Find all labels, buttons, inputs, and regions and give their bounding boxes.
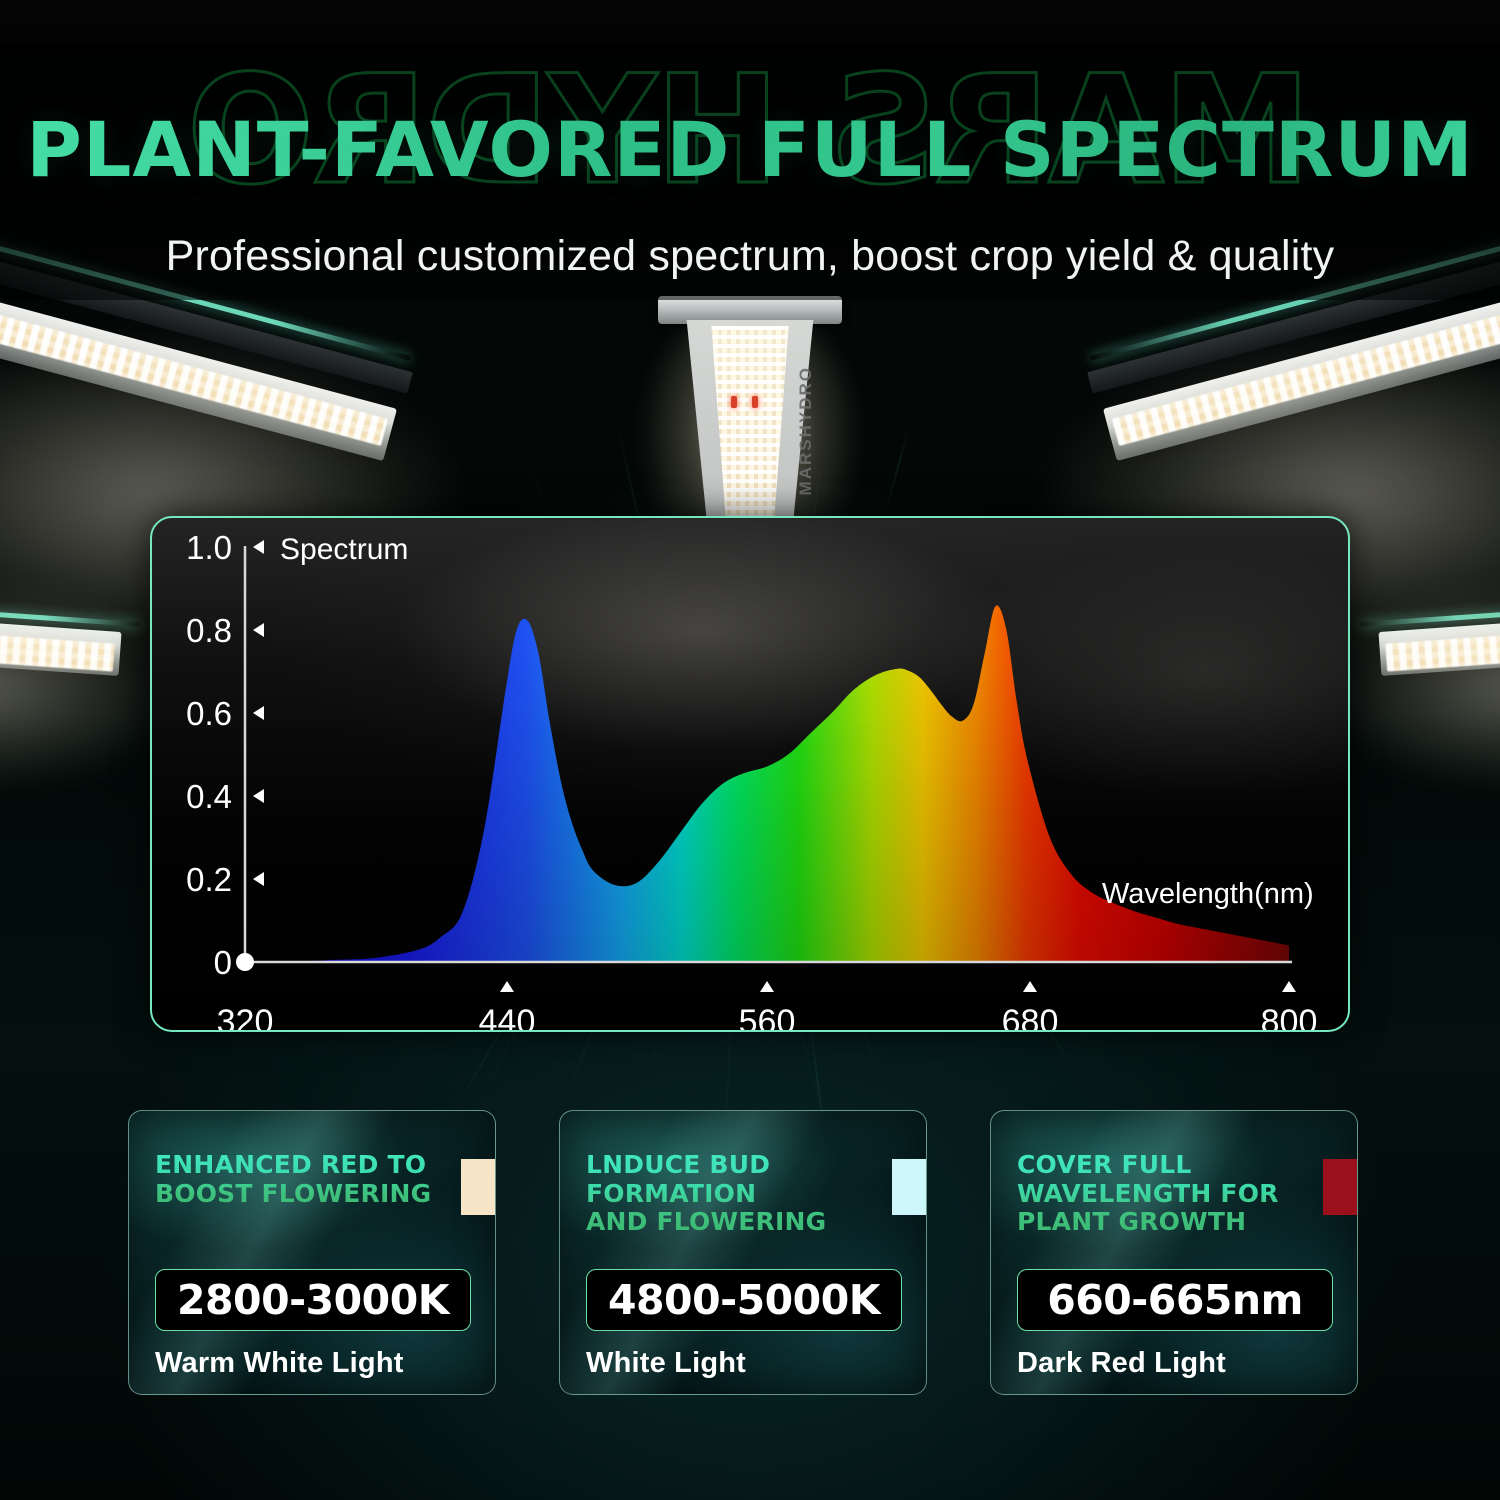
indicator-dot-2 [752,396,758,408]
value-box-3: 660-665nm [1017,1269,1333,1331]
x-axis-title: Wavelength(nm) [1102,878,1314,910]
grow-light-fixture-center: MARSHYDRO [600,296,900,546]
y-tick-label-1.0: 1.0 [186,529,232,566]
origin-dot [236,953,254,971]
header: MARS HYDRO PLANT-FAVORED FULL SPECTRUM P… [0,0,1500,300]
dark-red-swatch [1323,1159,1357,1215]
warm-white-swatch [461,1159,495,1215]
card-footer-3: Dark Red Light [1017,1347,1226,1380]
value-box-1: 2800-3000K [155,1269,471,1331]
card-footer-2: White Light [586,1347,746,1380]
card-heading-2: LNDUCE BUDFORMATIONAND FLOWERING [586,1151,886,1237]
spectrum-feature-cards: ENHANCED RED TOBOOST FLOWERING 2800-3000… [128,1110,1378,1395]
y-tick-label-0.6: 0.6 [186,695,232,732]
x-axis-label-row [150,1020,1350,1080]
y-tick-marks [253,540,264,886]
y-tick-label-0: 0 [214,944,232,981]
card-value-3: 660-665nm [1047,1276,1303,1324]
y-tick-label-0.4: 0.4 [186,778,232,815]
x-tick-marks [500,981,1296,992]
card-heading-1: ENHANCED RED TOBOOST FLOWERING [155,1151,455,1208]
page-title: PLANT-FAVORED FULL SPECTRUM [0,112,1500,188]
y-tick-label-0.2: 0.2 [186,861,232,898]
y-tick-labels: 1.0 0.8 0.6 0.4 0.2 0 [186,529,232,981]
card-value-1: 2800-3000K [177,1276,449,1324]
fixture-mount [658,296,842,324]
page-subtitle: Professional customized spectrum, boost … [0,232,1500,281]
white-swatch [892,1159,926,1215]
y-tick-label-0.8: 0.8 [186,612,232,649]
card-footer-1: Warm White Light [155,1347,404,1380]
fixture-brand-label: MARSHYDRO [796,366,816,495]
value-box-2: 4800-5000K [586,1269,902,1331]
card-white[interactable]: LNDUCE BUDFORMATIONAND FLOWERING 4800-50… [559,1110,927,1395]
spectrum-chart: 1.0 0.8 0.6 0.4 0.2 0 Spectrum Wavelengt… [152,518,1348,1030]
card-heading-3: COVER FULLWAVELENGTH FORPLANT GROWTH [1017,1151,1317,1237]
spectrum-chart-panel: 1.0 0.8 0.6 0.4 0.2 0 Spectrum Wavelengt… [150,516,1350,1032]
series-label: Spectrum [280,533,408,566]
card-dark-red[interactable]: COVER FULLWAVELENGTH FORPLANT GROWTH 660… [990,1110,1358,1395]
indicator-dot-1 [731,396,737,408]
card-warm-white[interactable]: ENHANCED RED TOBOOST FLOWERING 2800-3000… [128,1110,496,1395]
card-value-2: 4800-5000K [608,1276,880,1324]
